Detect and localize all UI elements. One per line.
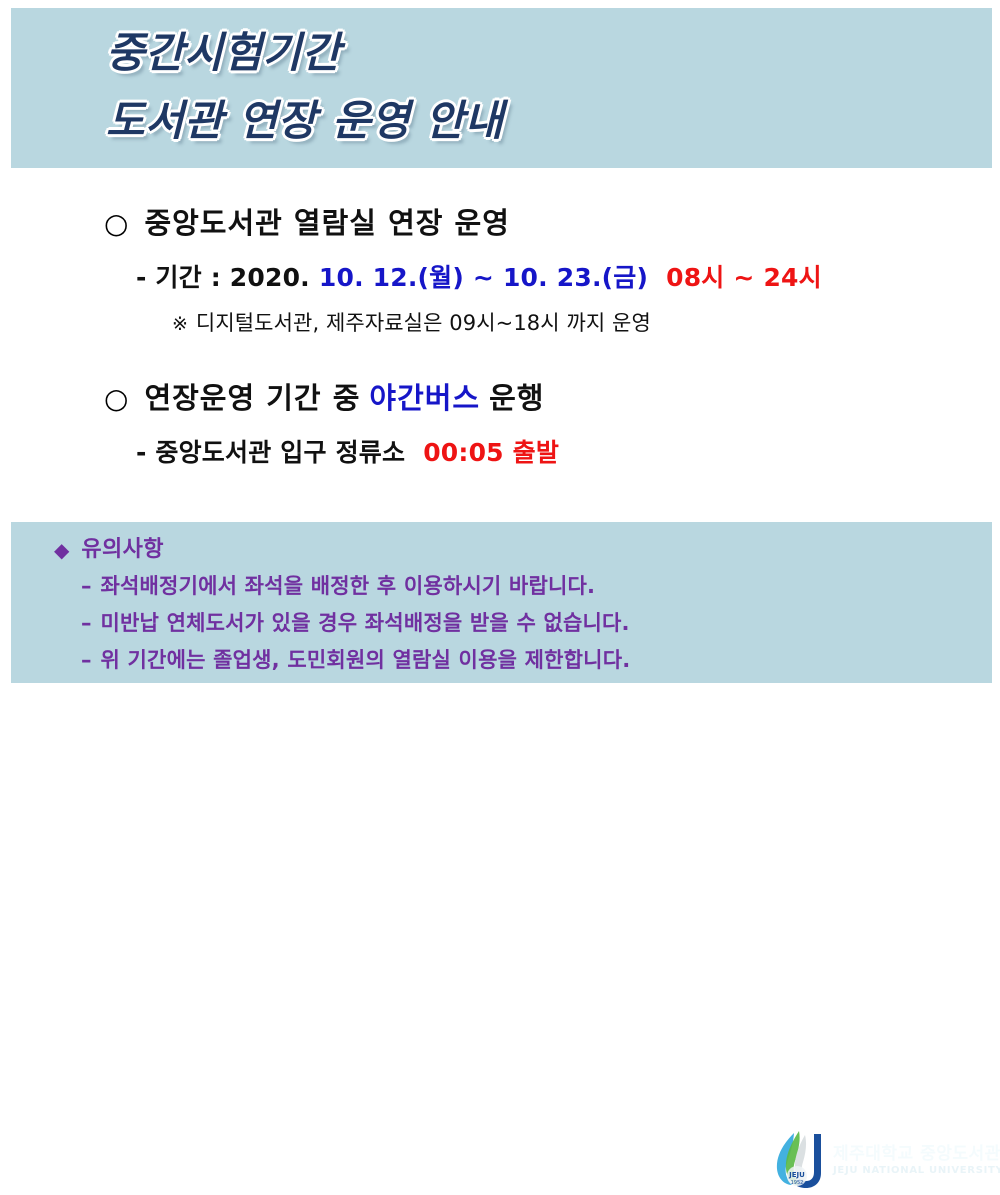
logo-name-en: JEJU NATIONAL UNIVERSITY LIBRARY [833, 1164, 1000, 1177]
notice-title-row: ◆ 유의사항 [11, 522, 992, 564]
section-1-heading-row: ○ 중앙도서관 열람실 연장 운영 [0, 206, 1000, 241]
period-hours: 08시 ~ 24시 [666, 263, 822, 293]
dash-icon: - [136, 263, 146, 293]
notice-item-text: 좌석배정기에서 좌석을 배정한 후 이용하시기 바랍니다. [101, 572, 596, 601]
poster-title-line-2: 도서관 연장 운영 안내 [106, 90, 966, 152]
svg-text:JEJU: JEJU [788, 1171, 805, 1179]
list-item: – 미반납 연체도서가 있을 경우 좌석배정을 받을 수 없습니다. [11, 609, 992, 638]
section-night-bus: ○ 연장운영 기간 중 야간버스 운행 - 중앙도서관 입구 정류소 00:05… [0, 381, 1000, 468]
section-2-heading-pre: 연장운영 기간 중 [144, 381, 360, 415]
jeju-university-emblem-icon: JEJU 1952 [768, 1129, 826, 1191]
period-date-range: 10. 12.(월) ~ 10. 23.(금) [319, 263, 648, 293]
section-1-period-row: - 기간 : 2020. 10. 12.(월) ~ 10. 23.(금) 08시… [0, 263, 1000, 293]
diamond-bullet-icon: ◆ [54, 536, 69, 564]
svg-text:1952: 1952 [791, 1180, 804, 1186]
bus-departure-time: 00:05 출발 [423, 438, 559, 468]
poster-root: 중간시험기간 도서관 연장 운영 안내 ○ 중앙도서관 열람실 연장 운영 - … [0, 0, 1000, 692]
section-1-heading: 중앙도서관 열람실 연장 운영 [144, 206, 509, 240]
section-1-note-row: ※ 디지털도서관, 제주자료실은 09시~18시 까지 운영 [0, 310, 1000, 337]
poster-title-block: 중간시험기간 도서관 연장 운영 안내 [106, 22, 966, 152]
section-1-note-text: 디지털도서관, 제주자료실은 09시~18시 까지 운영 [196, 310, 651, 336]
section-2-stop-row: - 중앙도서관 입구 정류소 00:05 출발 [0, 438, 1000, 468]
notice-item-text: 미반납 연체도서가 있을 경우 좌석배정을 받을 수 없습니다. [101, 609, 630, 638]
main-content: ○ 중앙도서관 열람실 연장 운영 - 기간 : 2020. 10. 12.(월… [0, 176, 1000, 520]
dash-icon: – [81, 609, 92, 638]
dash-icon: - [136, 438, 146, 468]
poster-title-line-1: 중간시험기간 [106, 22, 966, 84]
dash-icon: – [81, 572, 92, 601]
library-logo: JEJU 1952 제주대학교 중앙도서관 JEJU NATIONAL UNIV… [768, 1129, 996, 1191]
circle-bullet-icon: ○ [104, 382, 128, 416]
list-item: – 위 기간에는 졸업생, 도민회원의 열람실 이용을 제한합니다. [11, 646, 992, 675]
list-item: – 좌석배정기에서 좌석을 배정한 후 이용하시기 바랍니다. [11, 572, 992, 601]
logo-name-ko: 제주대학교 중앙도서관 [833, 1144, 1000, 1164]
section-2-heading-post: 운행 [489, 381, 544, 415]
section-2-heading-highlight: 야간버스 [369, 381, 480, 415]
dash-icon: – [81, 646, 92, 675]
reference-mark-icon: ※ [172, 311, 188, 337]
header-band: 중간시험기간 도서관 연장 운영 안내 [11, 8, 992, 168]
logo-text-block: 제주대학교 중앙도서관 JEJU NATIONAL UNIVERSITY LIB… [833, 1144, 1000, 1177]
notice-item-text: 위 기간에는 졸업생, 도민회원의 열람실 이용을 제한합니다. [101, 646, 631, 675]
notice-title: 유의사항 [81, 536, 164, 564]
period-label: 기간 : 2020. [155, 263, 309, 293]
circle-bullet-icon: ○ [104, 207, 128, 241]
footer-band: ◆ 유의사항 – 좌석배정기에서 좌석을 배정한 후 이용하시기 바랍니다. –… [11, 522, 992, 683]
bus-stop-label: 중앙도서관 입구 정류소 [155, 438, 405, 468]
section-reading-room-extension: ○ 중앙도서관 열람실 연장 운영 - 기간 : 2020. 10. 12.(월… [0, 206, 1000, 337]
section-2-heading-row: ○ 연장운영 기간 중 야간버스 운행 [0, 381, 1000, 416]
